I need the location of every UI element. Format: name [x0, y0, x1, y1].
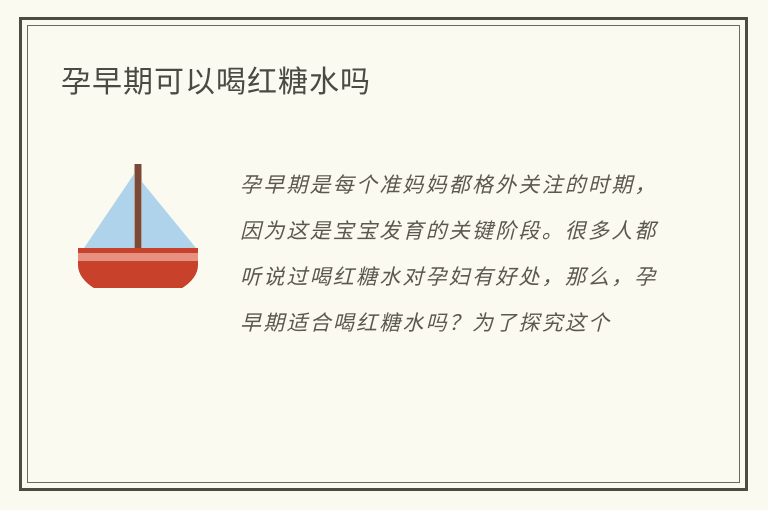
article-card: 孕早期可以喝红糖水吗 孕早期是每个准妈妈都格外关注的时期，因为这是宝宝发育的关键… [19, 17, 748, 491]
article-body: 孕早期是每个准妈妈都格外关注的时期，因为这是宝宝发育的关键阶段。很多人都听说过喝… [240, 148, 658, 346]
page-title: 孕早期可以喝红糖水吗 [61, 64, 371, 102]
article-content: 孕早期是每个准妈妈都格外关注的时期，因为这是宝宝发育的关键阶段。很多人都听说过喝… [61, 148, 715, 346]
sailboat-icon [72, 156, 204, 288]
